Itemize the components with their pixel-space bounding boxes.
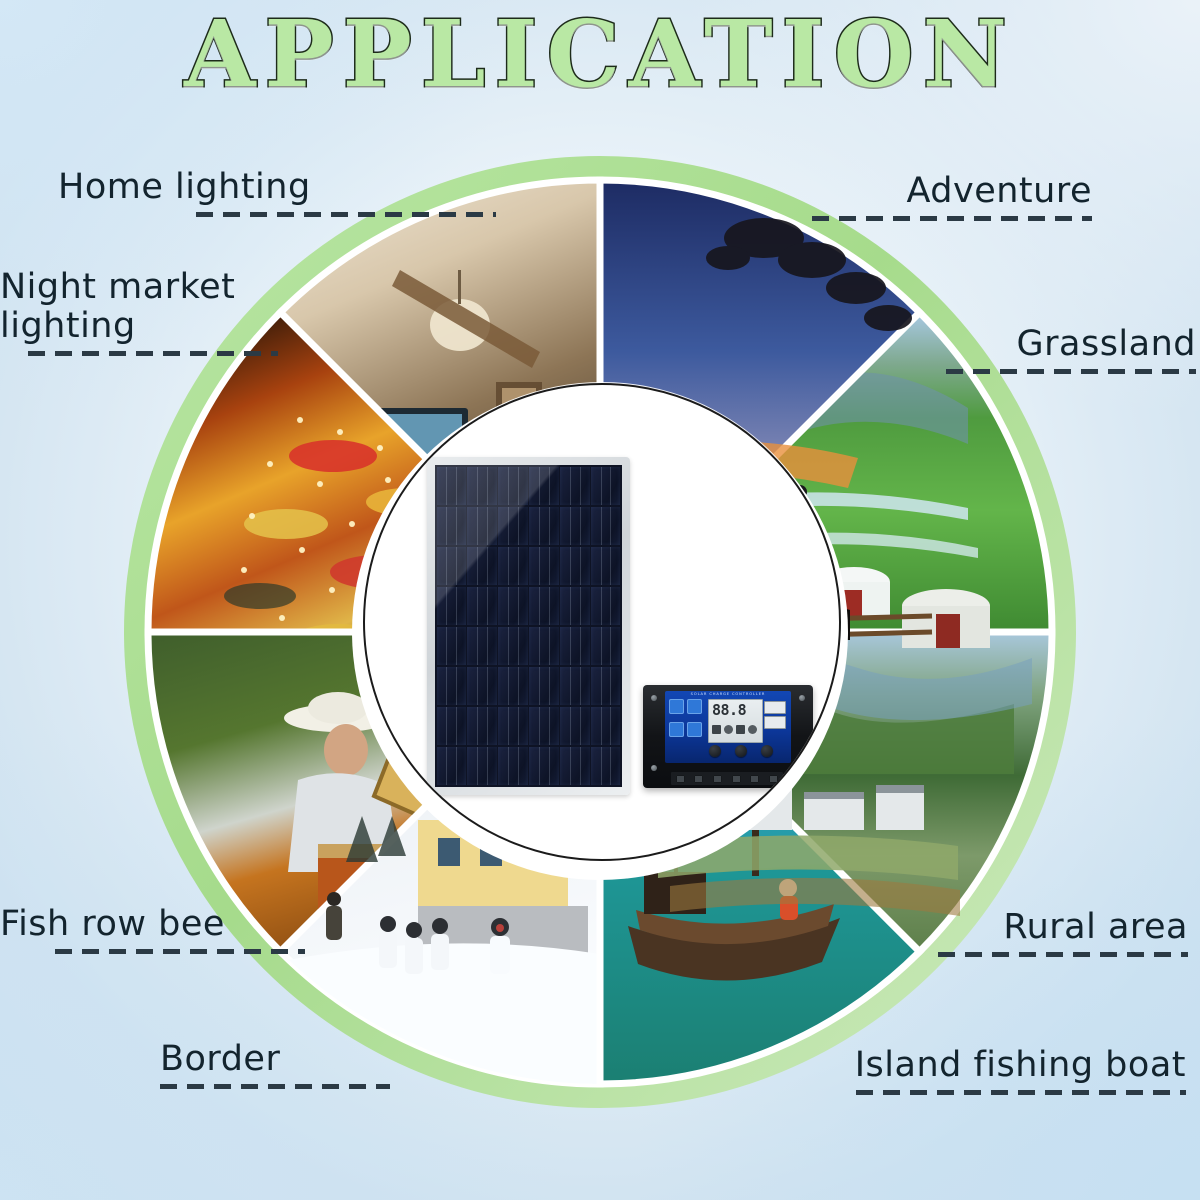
lcd-panel-icon: [712, 725, 721, 734]
terminal: [750, 775, 759, 783]
label-island-fishing-boat: Island fishing boat: [855, 1046, 1186, 1095]
lcd-load-icon: [736, 725, 745, 734]
page-title: APPLICATION: [0, 6, 1200, 103]
label-text-line2: lighting: [0, 306, 136, 346]
mounting-screw: [799, 695, 805, 701]
label-text: Home lighting: [58, 167, 311, 207]
controller-button-down[interactable]: [735, 745, 747, 757]
terminal: [732, 775, 741, 783]
label-text: Rural area: [1003, 907, 1188, 947]
terminal: [676, 775, 685, 783]
mounting-screw: [651, 695, 657, 701]
label-text: Island fishing boat: [855, 1045, 1186, 1085]
lcd-status-icon: [748, 725, 757, 734]
controller-indicator-2: [687, 699, 702, 714]
label-rural-area: Rural area: [938, 908, 1188, 957]
label-border: Border: [160, 1040, 390, 1089]
label-text: Grassland: [1017, 324, 1197, 364]
label-fish-row-bee: Fish row bee: [0, 905, 305, 954]
label-grassland: Grassland: [946, 325, 1196, 374]
poster-canvas: APPLICATION: [0, 0, 1200, 1200]
label-home-lighting: Home lighting: [58, 168, 496, 217]
label-text: Adventure: [906, 171, 1092, 211]
mounting-screw: [799, 765, 805, 771]
controller-indicator-3: [669, 722, 684, 737]
label-underline: [28, 351, 278, 356]
usb-port-1[interactable]: [764, 701, 786, 714]
controller-button-up[interactable]: [761, 745, 773, 757]
label-night-market-lighting: Night market lighting: [0, 268, 278, 356]
solar-panel: [427, 457, 630, 795]
controller-indicator-4: [687, 722, 702, 737]
terminal: [713, 775, 722, 783]
controller-indicator-1: [669, 699, 684, 714]
controller-faceplate: SOLAR CHARGE CONTROLLER 88.8: [665, 691, 791, 763]
solar-panel-cells: [435, 465, 622, 787]
mounting-screw: [651, 765, 657, 771]
label-underline: [856, 1090, 1186, 1095]
label-underline: [160, 1084, 390, 1089]
label-underline: [55, 949, 305, 954]
label-underline: [196, 212, 496, 217]
label-text: Night market: [0, 267, 235, 307]
label-underline: [946, 369, 1196, 374]
usb-port-2[interactable]: [764, 716, 786, 729]
label-underline: [812, 216, 1092, 221]
label-adventure: Adventure: [812, 172, 1092, 221]
label-text: Border: [160, 1039, 280, 1079]
controller-terminal-block: [671, 772, 783, 785]
terminal: [694, 775, 703, 783]
controller-button-menu[interactable]: [709, 745, 721, 757]
solar-charge-controller: SOLAR CHARGE CONTROLLER 88.8: [643, 685, 813, 788]
terminal: [769, 775, 778, 783]
product-circle: SOLAR CHARGE CONTROLLER 88.8: [363, 383, 841, 861]
lcd-icon-row: [712, 723, 758, 735]
label-underline: [938, 952, 1188, 957]
lcd-battery-icon: [724, 725, 733, 734]
controller-lcd-screen: 88.8: [708, 699, 763, 743]
lcd-value: 88.8: [712, 703, 746, 718]
label-text: Fish row bee: [0, 904, 225, 944]
controller-brand-text: SOLAR CHARGE CONTROLLER: [665, 692, 791, 696]
